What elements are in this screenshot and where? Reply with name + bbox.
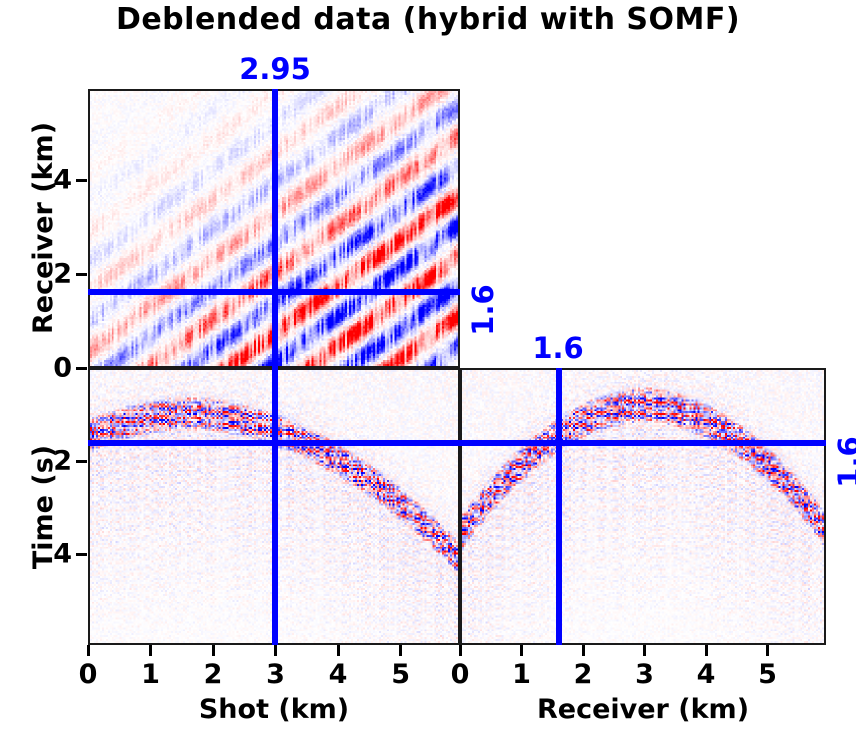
seismic-figure: Deblended data (hybrid with SOMF) 2.95 1…	[0, 0, 856, 734]
receiver-axis-tick	[520, 645, 523, 656]
shot-axis-tick	[274, 645, 277, 656]
receiver-slice-value-label-bottom: 1.6	[532, 331, 583, 365]
receiver-slice-line-bottom-right	[556, 368, 562, 645]
receiver-axis-tick	[643, 645, 646, 656]
receiver-axis-tick-label: 3	[635, 659, 654, 690]
receiver-vertical-tick-label: 0	[53, 353, 72, 384]
shot-axis-tick-label: 2	[204, 659, 223, 690]
receiver-axis-tick-label: 5	[758, 659, 777, 690]
shot-axis-tick-label: 5	[391, 659, 410, 690]
shot-slice-line-bottom-left	[272, 368, 278, 645]
shot-slice-value-label: 2.95	[239, 52, 311, 86]
receiver-vertical-tick	[76, 179, 87, 182]
shot-axis-tick-label: 3	[266, 659, 285, 690]
receiver-axis-tick	[766, 645, 769, 656]
shot-axis-tick	[149, 645, 152, 656]
time-axis-tick-label: 4	[53, 539, 72, 570]
receiver-vertical-axis-title: Receiver (km)	[28, 122, 59, 334]
shot-axis-tick	[337, 645, 340, 656]
shot-axis-tick	[212, 645, 215, 656]
receiver-axis-tick-label: 0	[451, 659, 470, 690]
common-shot-gather-image	[462, 370, 824, 643]
figure-title: Deblended data (hybrid with SOMF)	[0, 2, 856, 37]
receiver-axis-tick-label: 4	[697, 659, 716, 690]
shot-axis-tick-label: 1	[141, 659, 160, 690]
time-axis-tick	[76, 553, 87, 556]
receiver-vertical-tick-label: 2	[53, 259, 72, 290]
receiver-axis-tick	[459, 645, 462, 656]
time-slice-value-label: 1.6	[832, 436, 856, 487]
receiver-axis-tick-label: 1	[512, 659, 531, 690]
receiver-axis-tick	[705, 645, 708, 656]
shot-slice-line-top	[272, 89, 278, 368]
time-axis-tick	[76, 460, 87, 463]
receiver-vertical-tick-label: 4	[53, 165, 72, 196]
shot-axis-tick	[87, 645, 90, 656]
receiver-slice-value-label-top: 1.6	[466, 284, 500, 335]
receiver-vertical-tick	[76, 367, 87, 370]
receiver-axis-title: Receiver (km)	[537, 694, 749, 725]
time-slice-line-bottom-left	[88, 440, 460, 446]
shot-axis-tick	[399, 645, 402, 656]
receiver-slice-line-top	[88, 289, 460, 295]
time-slice-line-bottom-right	[460, 440, 826, 446]
shot-axis-tick-label: 0	[79, 659, 98, 690]
receiver-vertical-tick	[76, 273, 87, 276]
common-shot-gather-panel	[460, 368, 826, 645]
receiver-axis-tick	[582, 645, 585, 656]
receiver-axis-tick-label: 2	[574, 659, 593, 690]
shot-axis-title: Shot (km)	[199, 694, 349, 725]
time-axis-tick-label: 2	[53, 446, 72, 477]
shot-axis-tick-label: 4	[329, 659, 348, 690]
